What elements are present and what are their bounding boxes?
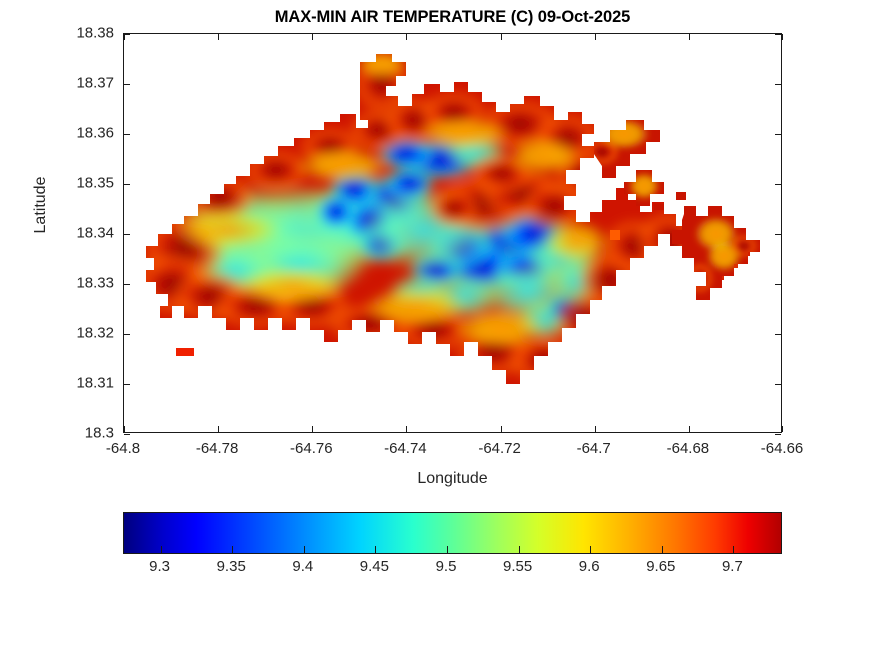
xtick-top-5 <box>595 34 596 40</box>
xtick-top-1 <box>218 34 219 40</box>
cbtick-8 <box>733 546 734 553</box>
x-axis-label: Longitude <box>123 470 782 488</box>
yticklabel-1: 18.31 <box>76 375 114 392</box>
cbtick-3 <box>375 546 376 553</box>
yticklabel-2: 18.32 <box>76 325 114 342</box>
ytick-right-2 <box>775 334 781 335</box>
temperature-heatmap <box>124 34 781 432</box>
xticklabel-0: -64.8 <box>106 440 140 457</box>
xtick-5 <box>595 426 596 432</box>
cbticklabel-0: 9.3 <box>149 558 170 575</box>
xtick-6 <box>689 426 690 432</box>
xticklabel-3: -64.74 <box>384 440 427 457</box>
ytick-right-8 <box>775 34 781 35</box>
yticklabel-4: 18.34 <box>76 225 114 242</box>
ytick-8 <box>124 34 130 35</box>
ytick-label-group: 18.38 18.37 18.36 18.35 18.34 18.33 18.3… <box>0 33 114 433</box>
ytick-right-5 <box>775 184 781 185</box>
cbtick-0 <box>161 546 162 553</box>
ytick-right-6 <box>775 134 781 135</box>
xtick-top-6 <box>689 34 690 40</box>
matlab-figure: MAX-MIN AIR TEMPERATURE (C) 09-Oct-2025 <box>0 0 875 656</box>
ytick-right-1 <box>775 384 781 385</box>
cbticklabel-5: 9.55 <box>503 558 532 575</box>
xtick-top-4 <box>501 34 502 40</box>
xticklabel-4: -64.72 <box>478 440 521 457</box>
colorbar: 9.3 9.35 9.4 9.45 9.5 9.55 9.6 9.65 9.7 <box>123 512 782 554</box>
xtick-2 <box>312 426 313 432</box>
ytick-right-0 <box>775 434 781 435</box>
cbtick-6 <box>590 546 591 553</box>
y-axis-label: Latitude <box>32 145 50 265</box>
heatmap-raster <box>124 34 781 432</box>
cbticklabel-2: 9.4 <box>292 558 313 575</box>
ytick-4 <box>124 234 130 235</box>
plot-axes <box>123 33 782 433</box>
xtick-4 <box>501 426 502 432</box>
xticklabel-1: -64.78 <box>196 440 239 457</box>
xtick-top-3 <box>406 34 407 40</box>
yticklabel-6: 18.36 <box>76 125 114 142</box>
ytick-right-3 <box>775 284 781 285</box>
cbticklabel-1: 9.35 <box>217 558 246 575</box>
cbtick-5 <box>519 546 520 553</box>
cbticklabel-8: 9.7 <box>722 558 743 575</box>
ytick-right-4 <box>775 234 781 235</box>
cbticklabel-3: 9.45 <box>360 558 389 575</box>
cbtick-4 <box>447 546 448 553</box>
ytick-6 <box>124 134 130 135</box>
ytick-2 <box>124 334 130 335</box>
cbtick-1 <box>232 546 233 553</box>
xticklabel-2: -64.76 <box>290 440 333 457</box>
xticklabel-6: -64.68 <box>667 440 710 457</box>
yticklabel-5: 18.35 <box>76 175 114 192</box>
cbtick-7 <box>662 546 663 553</box>
ytick-7 <box>124 84 130 85</box>
colorbar-gradient <box>123 512 782 554</box>
yticklabel-0: 18.3 <box>85 425 114 442</box>
xticklabel-7: -64.66 <box>761 440 804 457</box>
ytick-0 <box>124 434 130 435</box>
ytick-3 <box>124 284 130 285</box>
cbtick-2 <box>304 546 305 553</box>
yticklabel-7: 18.37 <box>76 75 114 92</box>
yticklabel-8: 18.38 <box>76 25 114 42</box>
xtick-7 <box>782 426 783 432</box>
xtick-top-7 <box>782 34 783 40</box>
cbticklabel-4: 9.5 <box>436 558 457 575</box>
xtick-0 <box>124 426 125 432</box>
cbticklabel-6: 9.6 <box>579 558 600 575</box>
yticklabel-3: 18.33 <box>76 275 114 292</box>
xtick-1 <box>218 426 219 432</box>
ytick-right-7 <box>775 84 781 85</box>
page-title: MAX-MIN AIR TEMPERATURE (C) 09-Oct-2025 <box>123 8 782 27</box>
ytick-5 <box>124 184 130 185</box>
cbticklabel-7: 9.65 <box>646 558 675 575</box>
ytick-1 <box>124 384 130 385</box>
xtick-top-2 <box>312 34 313 40</box>
xtick-3 <box>406 426 407 432</box>
xticklabel-5: -64.7 <box>577 440 611 457</box>
